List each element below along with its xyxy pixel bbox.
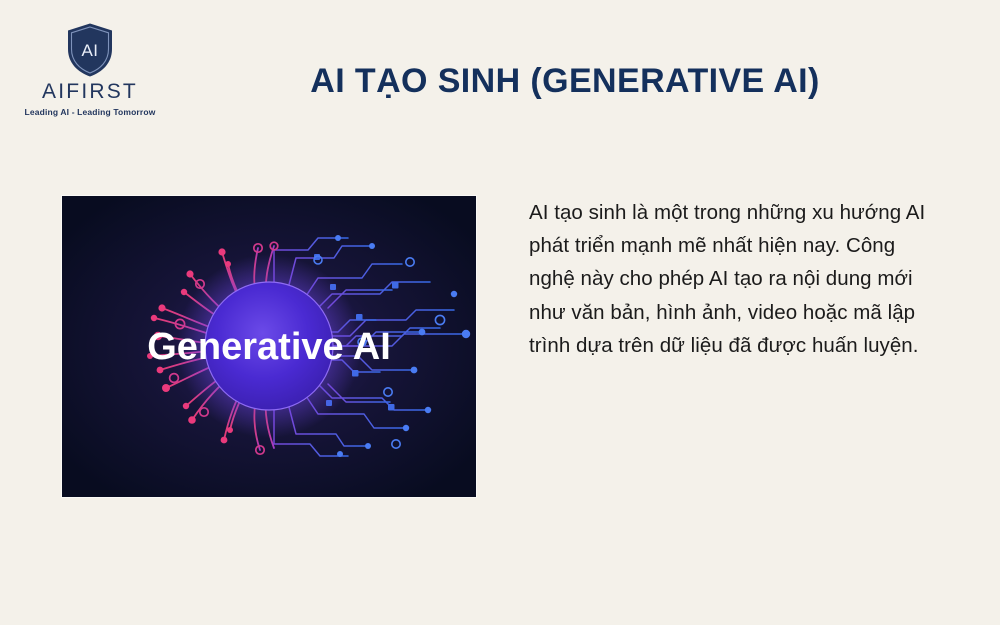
svg-text:AI: AI: [81, 41, 98, 60]
brand-tagline: Leading AI - Leading Tomorrow: [20, 107, 160, 117]
generative-ai-illustration: Generative AI: [62, 196, 476, 497]
figure-caption: Generative AI: [147, 326, 391, 368]
brand-logo[interactable]: AI AIFIRST Leading AI - Leading Tomorrow: [20, 22, 160, 117]
brand-wordmark: AIFIRST: [20, 80, 160, 103]
page-title: AI TẠO SINH (GENERATIVE AI): [170, 62, 960, 101]
slide-canvas: AI AIFIRST Leading AI - Leading Tomorrow…: [0, 0, 1000, 625]
body-paragraph: AI tạo sinh là một trong những xu hướng …: [529, 196, 933, 362]
shield-ai-icon: AI: [65, 22, 115, 78]
